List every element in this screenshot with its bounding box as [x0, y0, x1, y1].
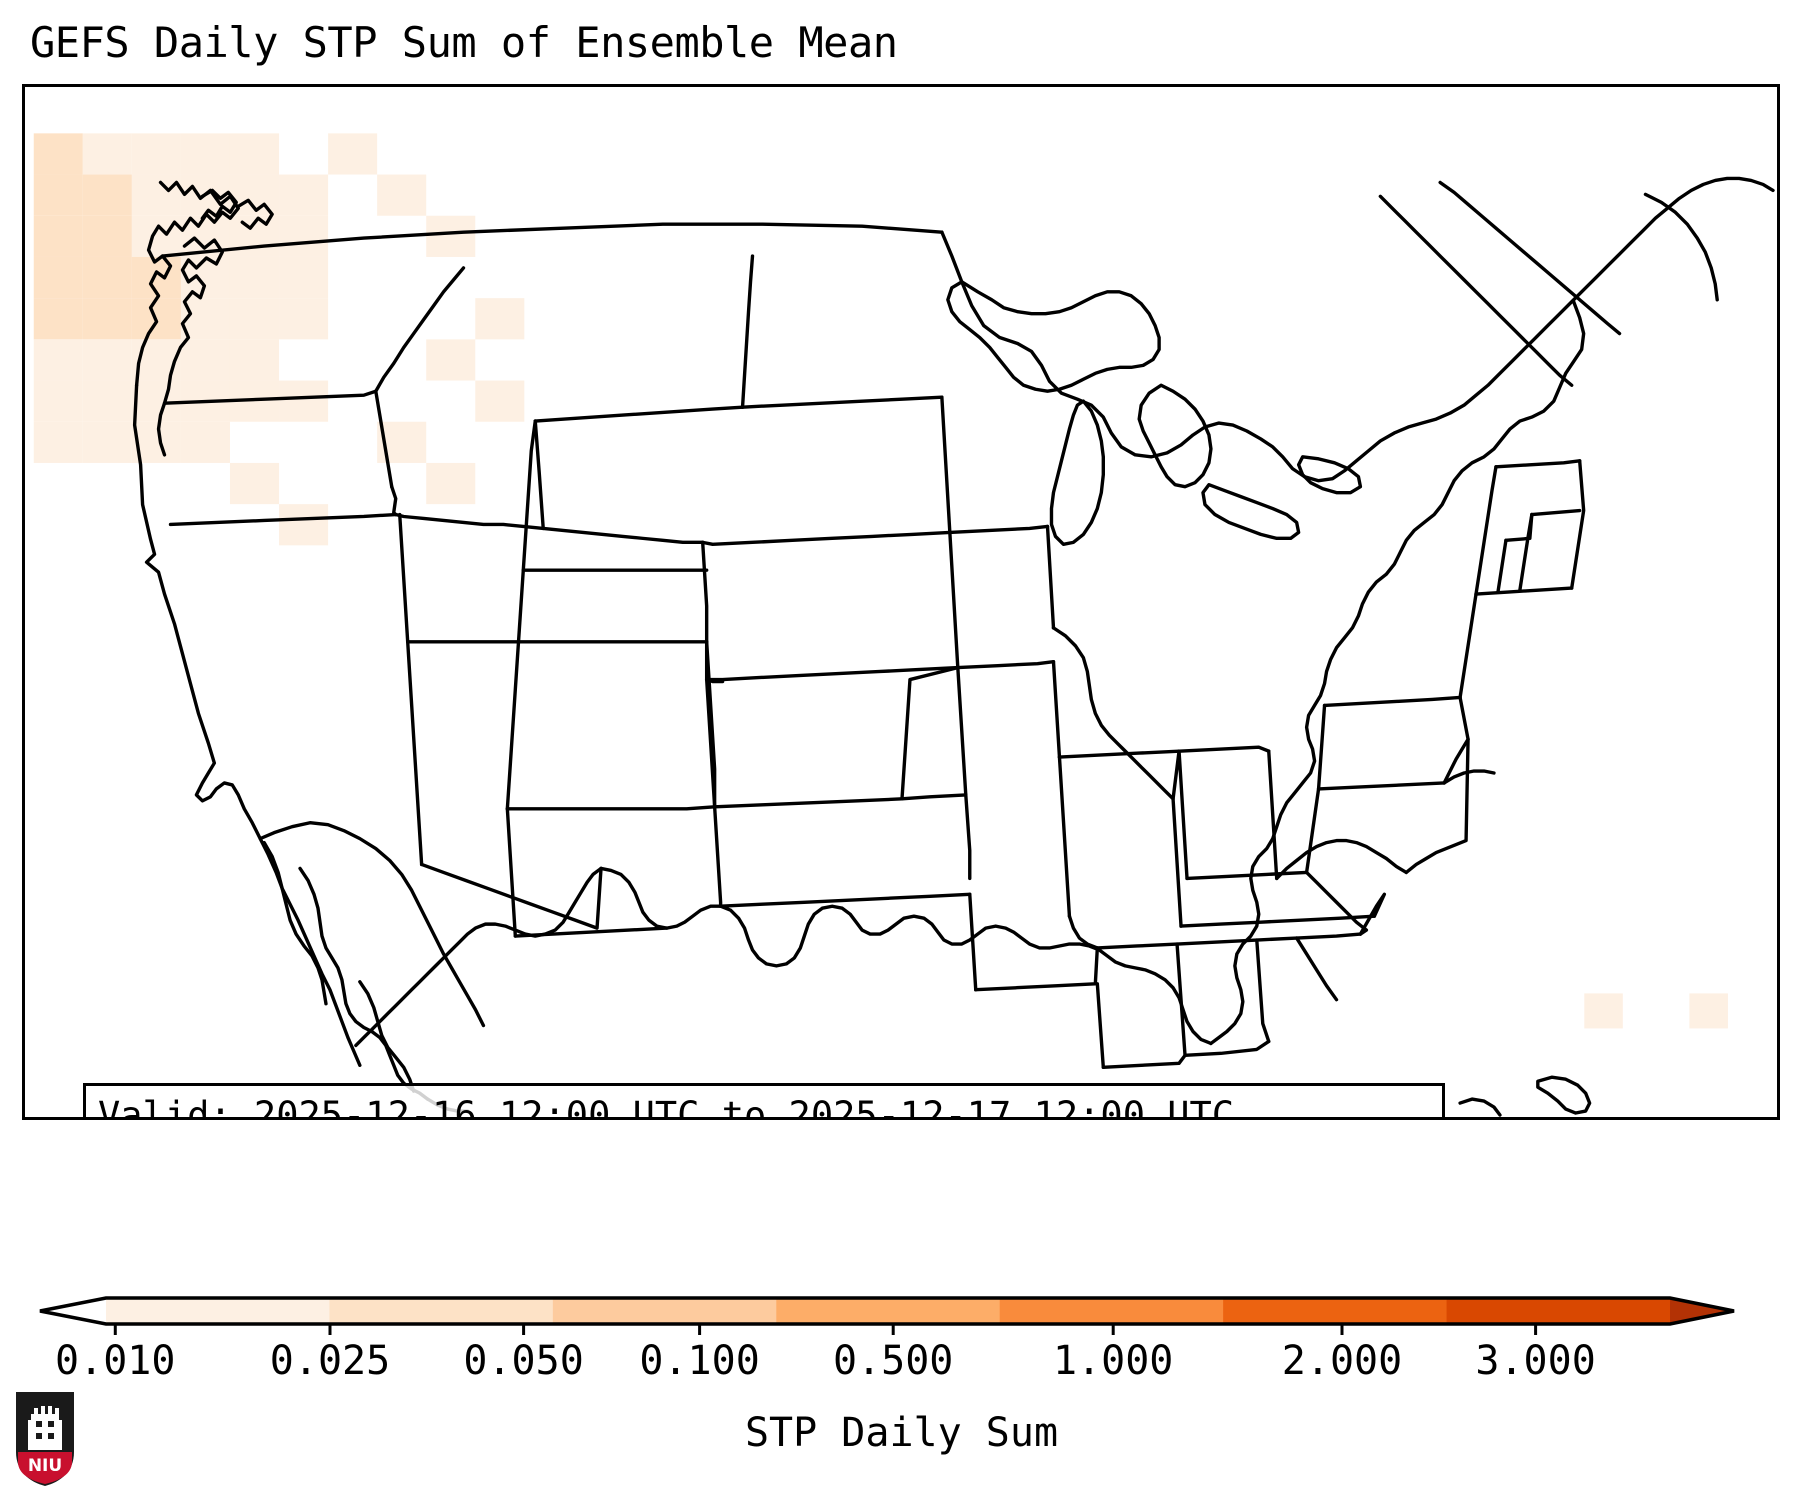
heatmap-cell — [132, 133, 181, 174]
heatmap-cell — [328, 133, 377, 174]
heatmap-cell — [475, 381, 524, 422]
heatmap-cell — [34, 133, 83, 174]
heatmap-cell — [230, 133, 279, 174]
heatmap-cell — [279, 257, 328, 298]
colorbar-over-arrow — [1670, 1298, 1734, 1324]
colorbar-svg[interactable] — [22, 1290, 1782, 1336]
heatmap-cell — [1689, 993, 1728, 1028]
colorbar-tick-label: 1.000 — [1053, 1338, 1173, 1384]
colorbar-segment — [329, 1298, 553, 1324]
heatmap-cell — [83, 257, 132, 298]
heatmap-cell — [377, 175, 426, 216]
heatmap-cell — [34, 298, 83, 339]
heatmap-cell — [279, 504, 328, 545]
colorbar-under-arrow — [40, 1298, 106, 1324]
heatmap-cell — [34, 175, 83, 216]
map-panel: Valid: 2025-12-16 12:00 UTC to 2025-12-1… — [22, 84, 1780, 1120]
heatmap-cells — [34, 133, 1728, 1028]
colorbar-segment — [106, 1298, 330, 1324]
heatmap-cell — [83, 422, 132, 463]
heatmap-cell — [34, 339, 83, 380]
map-boundaries — [135, 178, 1773, 1117]
heatmap-cell — [34, 257, 83, 298]
heatmap-cell — [34, 381, 83, 422]
heatmap-cell — [83, 339, 132, 380]
colorbar-segment — [1447, 1298, 1671, 1324]
heatmap-cell — [279, 381, 328, 422]
heatmap-cell — [181, 133, 230, 174]
heatmap-cell — [83, 175, 132, 216]
heatmap-cell — [230, 298, 279, 339]
colorbar-tick-label: 3.000 — [1475, 1338, 1595, 1384]
niu-logo: NIU — [14, 1390, 76, 1488]
colorbar-tick-label: 0.050 — [463, 1338, 583, 1384]
colorbar-segments — [40, 1298, 1734, 1324]
heatmap-cell — [475, 298, 524, 339]
colorbar-segment — [1000, 1298, 1224, 1324]
heatmap-cell — [34, 216, 83, 257]
heatmap-cell — [181, 339, 230, 380]
valid-time-line: Valid: 2025-12-16 12:00 UTC to 2025-12-1… — [98, 1092, 1430, 1120]
heatmap-cell — [1584, 993, 1623, 1028]
colorbar[interactable] — [22, 1290, 1782, 1336]
niu-wordmark: NIU — [28, 1456, 62, 1476]
colorbar-tick-label: 0.010 — [55, 1338, 175, 1384]
map-canvas — [25, 87, 1777, 1117]
valid-run-info-box: Valid: 2025-12-16 12:00 UTC to 2025-12-1… — [83, 1083, 1445, 1120]
heatmap-cell — [426, 463, 475, 504]
heatmap-cell — [181, 422, 230, 463]
heatmap-cell — [426, 216, 475, 257]
heatmap-cell — [279, 175, 328, 216]
heatmap-cell — [279, 216, 328, 257]
heatmap-cell — [83, 381, 132, 422]
heatmap-cell — [230, 257, 279, 298]
heatmap-cell — [230, 463, 279, 504]
colorbar-segment — [1223, 1298, 1447, 1324]
colorbar-tick-label: 0.100 — [639, 1338, 759, 1384]
heatmap-cell — [83, 298, 132, 339]
niu-logo-svg: NIU — [14, 1390, 76, 1488]
heatmap-cell — [83, 133, 132, 174]
colorbar-tick-label: 0.500 — [833, 1338, 953, 1384]
heatmap-cell — [426, 339, 475, 380]
heatmap-cell — [34, 422, 83, 463]
heatmap-cell — [83, 216, 132, 257]
heatmap-cell — [132, 175, 181, 216]
page-title: GEFS Daily STP Sum of Ensemble Mean — [30, 18, 898, 67]
colorbar-axis-label: STP Daily Sum — [0, 1410, 1803, 1456]
heatmap-cell — [279, 298, 328, 339]
colorbar-tick-label: 2.000 — [1282, 1338, 1402, 1384]
colorbar-segment — [776, 1298, 1000, 1324]
colorbar-segment — [553, 1298, 777, 1324]
colorbar-tick-labels: 0.0100.0250.0500.1000.5001.0002.0003.000 — [22, 1338, 1782, 1390]
heatmap-cell — [230, 339, 279, 380]
colorbar-tick-label: 0.025 — [270, 1338, 390, 1384]
